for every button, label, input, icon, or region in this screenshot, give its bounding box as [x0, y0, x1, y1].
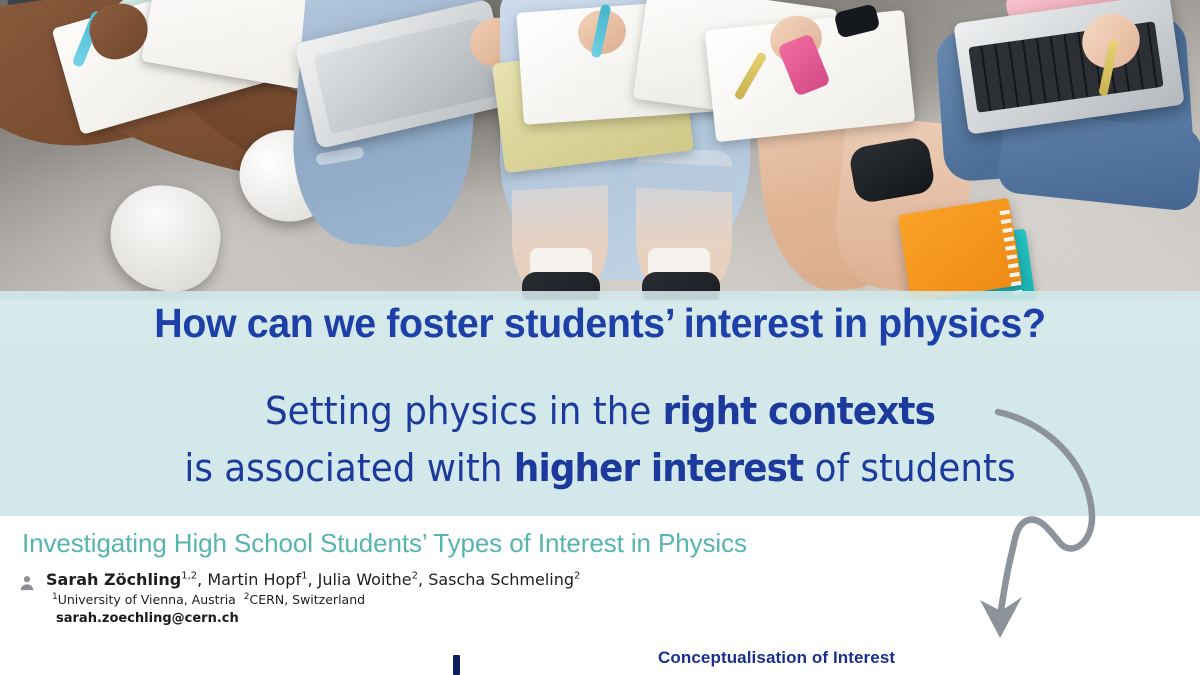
photo-person3-cuff-right [631, 161, 736, 192]
author-name-4: Sascha Schmeling [428, 570, 574, 589]
author-name-primary: Sarah Zöchling [46, 570, 181, 589]
author-sup-primary: 1,2 [181, 571, 197, 582]
subtitle-line-2-text: is associated with [184, 446, 513, 490]
hero-photo [0, 0, 1200, 300]
author-sup-2: 1 [301, 571, 307, 582]
author-sup-3: 2 [412, 571, 418, 582]
author-name-2: Martin Hopf [207, 570, 301, 589]
affiliation-list: 1University of Vienna, Austria 2CERN, Sw… [52, 592, 365, 607]
chart-bar-tick-icon [453, 655, 460, 675]
subtitle-line-2-emphasis: higher interest [514, 446, 803, 490]
subtitle-line-1-emphasis: right contexts [663, 389, 935, 433]
slide-canvas: How can we foster students’ interest in … [0, 0, 1200, 675]
person-icon [18, 574, 36, 592]
author-sup-4: 2 [574, 571, 580, 582]
study-title: Investigating High School Students’ Type… [22, 528, 747, 559]
contact-email[interactable]: sarah.zoechling@cern.ch [56, 611, 239, 626]
author-list: Sarah Zöchling1,2, Martin Hopf1, Julia W… [46, 570, 580, 589]
section-label: Conceptualisation of Interest [658, 648, 895, 668]
subtitle-line-1-text: Setting physics in the [265, 389, 663, 433]
page-title: How can we foster students’ interest in … [24, 300, 1176, 347]
author-name-3: Julia Woithe [318, 570, 412, 589]
affiliation-text-1: University of Vienna, Austria [58, 592, 236, 607]
affiliation-text-2: CERN, Switzerland [250, 592, 366, 607]
curved-squiggle-arrow-icon [960, 395, 1200, 675]
